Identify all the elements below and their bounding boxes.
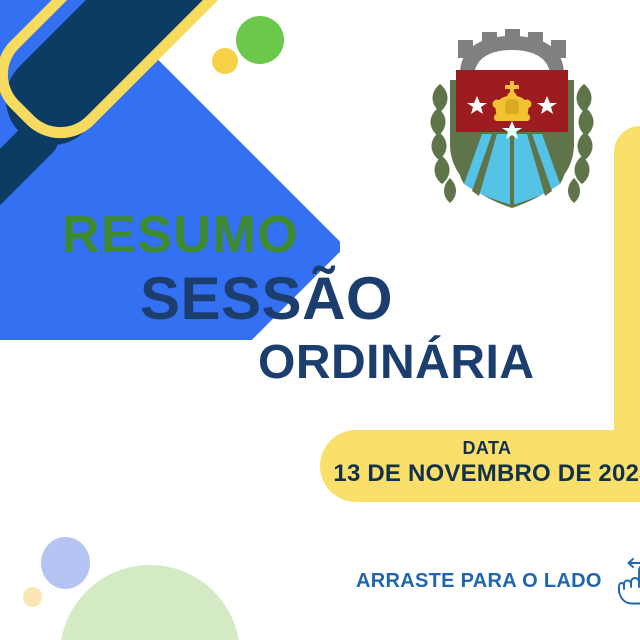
soft-yellow-circle-decoration [23,587,42,607]
date-label: DATA [320,437,640,459]
soft-green-circle-decoration [60,565,240,640]
soft-blue-circle-decoration [41,537,90,589]
date-value: 13 DE NOVEMBRO DE 2023 [320,459,640,489]
coat-of-arms-icon [424,24,600,210]
yellow-right-edge-slab [614,126,640,436]
swipe-hint[interactable]: ARRASTE PARA O LADO [356,556,640,606]
heading-ordinaria: ORDINÁRIA [258,334,600,392]
heading-sessao: SESSÃO [140,264,600,334]
date-banner: DATA 13 DE NOVEMBRO DE 2023 [320,430,640,502]
green-circle-decoration [236,16,284,64]
post-headings: RESUMO SESSÃO ORDINÁRIA [0,206,600,392]
coat-of-arms-emblem [424,24,600,210]
heading-resumo: RESUMO [62,206,600,264]
yellow-circle-decoration [212,48,238,74]
swipe-hint-label: ARRASTE PARA O LADO [356,570,602,593]
social-post-canvas: RESUMO SESSÃO ORDINÁRIA DATA 13 DE NOVEM… [0,0,640,640]
swipe-hand-icon [616,556,640,606]
